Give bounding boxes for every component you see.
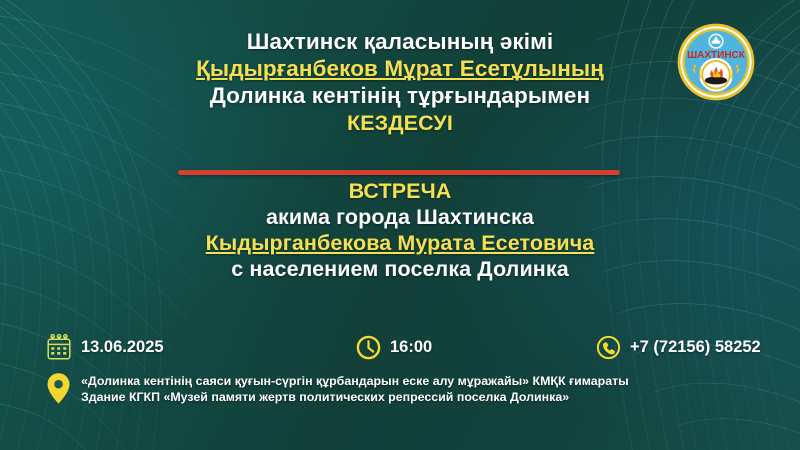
event-date: 13.06.2025 bbox=[46, 328, 164, 366]
event-time-value: 16:00 bbox=[390, 338, 432, 357]
event-phone: +7 (72156) 58252 bbox=[596, 328, 761, 366]
location-pin-icon bbox=[46, 372, 71, 405]
kazakh-line-2-official-name: Қыдырғанбеков Мұрат Есетұлының bbox=[0, 55, 800, 82]
event-location-kazakh: «Долинка кентінің саяси қуғын-сүргін құр… bbox=[81, 373, 629, 389]
russian-line-2: акима города Шахтинска bbox=[0, 204, 800, 230]
kazakh-line-1: Шахтинск қаласының әкімі bbox=[0, 28, 800, 55]
event-time: 16:00 bbox=[356, 328, 432, 366]
kazakh-announcement-text: Шахтинск қаласының әкімі Қыдырғанбеков М… bbox=[0, 28, 800, 136]
clock-icon bbox=[356, 335, 381, 360]
russian-announcement-text: ВСТРЕЧА акима города Шахтинска Кыдырганб… bbox=[0, 178, 800, 282]
kazakh-line-4-meeting: КЕЗДЕСУІ bbox=[0, 110, 800, 136]
event-announcement-poster: ШАХТИНСК Шахтинск қаласының әкімі Қыдырғ… bbox=[0, 0, 800, 450]
section-divider bbox=[178, 170, 620, 175]
event-phone-value: +7 (72156) 58252 bbox=[630, 338, 761, 357]
phone-icon bbox=[596, 335, 621, 360]
event-location-russian: Здание КГКП «Музей памяти жертв политиче… bbox=[81, 389, 629, 405]
kazakh-line-3: Долинка кентінің тұрғындарымен bbox=[0, 82, 800, 109]
calendar-icon bbox=[46, 334, 72, 361]
russian-line-3-official-name: Кыдырганбекова Мурата Есетовича bbox=[0, 230, 800, 256]
russian-line-1-meeting: ВСТРЕЧА bbox=[0, 178, 800, 204]
event-location: «Долинка кентінің саяси қуғын-сүргін құр… bbox=[46, 372, 629, 405]
event-details-row: 13.06.2025 16:00 +7 (72156) 58252 bbox=[0, 328, 800, 366]
russian-line-4: с населением поселка Долинка bbox=[0, 256, 800, 282]
event-date-value: 13.06.2025 bbox=[81, 338, 164, 357]
